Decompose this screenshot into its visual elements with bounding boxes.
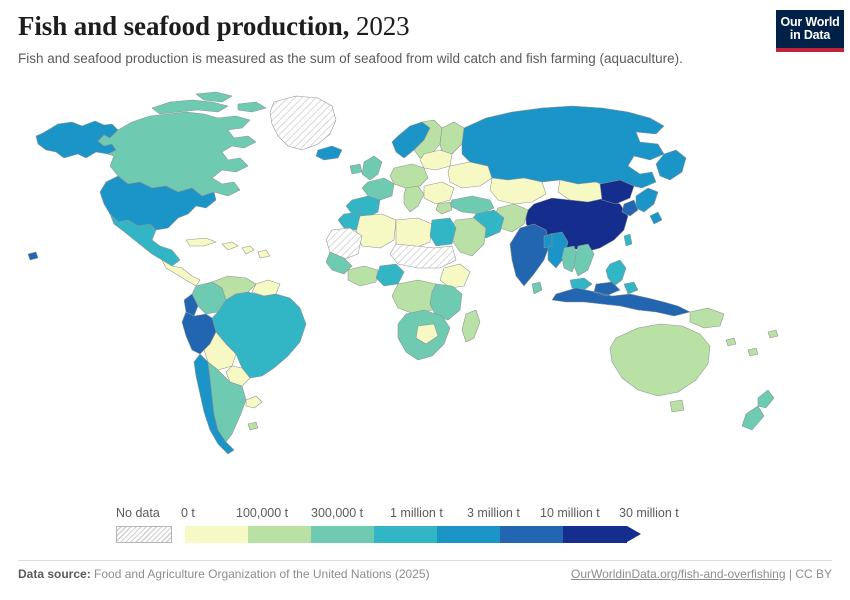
page-subtitle: Fish and seafood production is measured … — [18, 50, 832, 68]
legend-label-1-million: 1 million t — [390, 505, 443, 521]
legend-bin-1[interactable] — [248, 526, 311, 543]
country-finland[interactable] — [440, 122, 464, 154]
owid-logo-line2: in Data — [790, 29, 830, 42]
legend-arrow-icon — [627, 526, 641, 542]
legend-labels: No data 0 t 100,000 t 300,000 t 1 millio… — [0, 505, 850, 523]
region-northeast-china[interactable] — [600, 180, 634, 204]
region-sahel-nodata[interactable] — [390, 244, 456, 268]
owid-chart-page: Fish and seafood production, 2023 Fish a… — [0, 0, 850, 600]
region-falklands[interactable] — [248, 422, 258, 430]
country-papua-new-guinea[interactable] — [690, 308, 724, 328]
data-source: Data source: Food and Agriculture Organi… — [18, 566, 430, 582]
footer-divider — [18, 560, 832, 561]
country-algeria[interactable] — [356, 214, 396, 248]
map-svg[interactable] — [0, 88, 850, 498]
region-tasmania[interactable] — [670, 400, 684, 412]
legend-label-0: 0 t — [181, 505, 195, 521]
country-egypt[interactable] — [430, 218, 456, 246]
chart-header: Fish and seafood production, 2023 Fish a… — [18, 10, 832, 80]
map-legend[interactable]: No data 0 t 100,000 t 300,000 t 1 millio… — [0, 505, 850, 553]
country-india[interactable] — [510, 224, 550, 286]
legend-bin-4[interactable] — [437, 526, 500, 543]
owid-logo[interactable]: Our World in Data — [776, 10, 844, 52]
data-source-label: Data source: — [18, 567, 91, 581]
page-title: Fish and seafood production, 2023 — [18, 10, 832, 42]
region-arabian-peninsula[interactable] — [450, 218, 486, 256]
country-kazakhstan[interactable] — [490, 178, 546, 204]
data-source-text: Food and Agriculture Organization of the… — [94, 567, 430, 581]
region-ukraine-belarus[interactable] — [448, 162, 492, 188]
region-guinea-coast[interactable] — [348, 266, 378, 286]
owid-url-link[interactable]: OurWorldinData.org/fish-and-overfishing — [571, 567, 786, 581]
legend-label-no-data: No data — [116, 505, 160, 521]
region-hawaii[interactable] — [28, 252, 38, 260]
country-greece[interactable] — [436, 202, 452, 214]
country-malaysia[interactable] — [570, 278, 592, 290]
legend-label-10-million: 10 million t — [540, 505, 600, 521]
page-title-year: 2023 — [356, 11, 410, 41]
world-choropleth-map[interactable] — [0, 88, 850, 498]
country-madagascar[interactable] — [462, 310, 480, 342]
legend-bin-3[interactable] — [374, 526, 437, 543]
country-new-zealand[interactable] — [742, 390, 774, 430]
region-pacific-islands[interactable] — [726, 330, 778, 356]
country-russia[interactable] — [462, 106, 664, 188]
country-canada-arctic-islands[interactable] — [152, 92, 266, 114]
country-iceland[interactable] — [316, 146, 342, 160]
region-balkans[interactable] — [424, 182, 454, 204]
legend-label-3-million: 3 million t — [467, 505, 520, 521]
legend-bin-0[interactable] — [185, 526, 248, 543]
country-italy[interactable] — [404, 186, 424, 212]
country-australia[interactable] — [610, 324, 710, 396]
country-libya[interactable] — [396, 218, 432, 248]
legend-label-300000: 300,000 t — [311, 505, 363, 521]
legend-label-30-million: 30 million t — [619, 505, 679, 521]
country-japan[interactable] — [636, 188, 662, 224]
country-sri-lanka[interactable] — [532, 282, 542, 294]
legend-label-100000: 100,000 t — [236, 505, 288, 521]
chart-footer: Data source: Food and Agriculture Organi… — [18, 566, 832, 592]
legend-swatch-no-data[interactable] — [116, 526, 172, 543]
legend-bin-5[interactable] — [500, 526, 563, 543]
legend-bin-2[interactable] — [311, 526, 374, 543]
country-uruguay[interactable] — [246, 396, 262, 408]
footer-attribution: OurWorldinData.org/fish-and-overfishing … — [571, 566, 832, 582]
legend-bin-6[interactable] — [563, 526, 627, 543]
country-taiwan[interactable] — [624, 234, 632, 246]
country-bangladesh[interactable] — [544, 234, 552, 248]
country-nigeria[interactable] — [376, 264, 404, 286]
country-ethiopia[interactable] — [440, 264, 470, 288]
license-text: | CC BY — [786, 567, 832, 581]
region-central-america[interactable] — [162, 260, 200, 286]
country-greenland[interactable] — [270, 96, 336, 150]
region-caribbean[interactable] — [186, 238, 270, 258]
region-guyanas[interactable] — [252, 280, 280, 296]
region-central-europe[interactable] — [390, 164, 428, 188]
page-title-text: Fish and seafood production, — [18, 11, 349, 41]
country-united-kingdom[interactable] — [350, 156, 382, 180]
